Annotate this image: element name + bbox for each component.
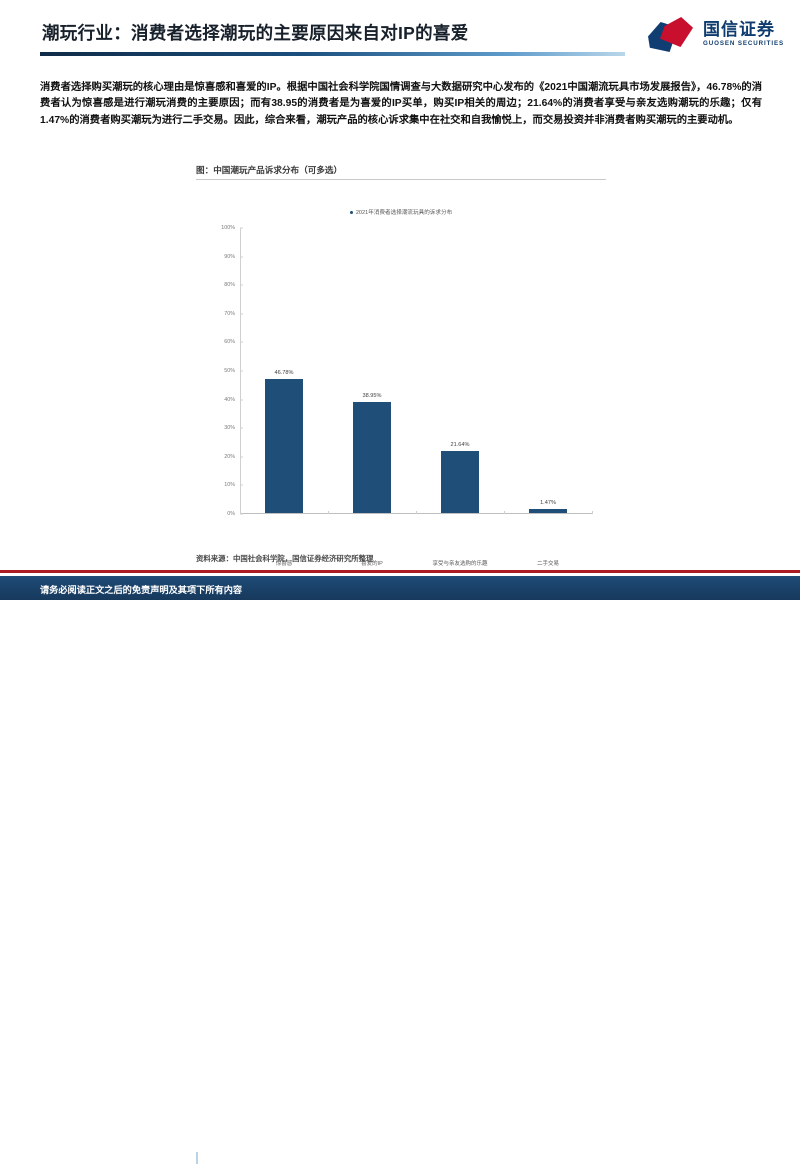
chart-legend: 2021年消费者选择潮流玩具的诉求分布	[196, 208, 606, 216]
guosen-logo-icon	[648, 15, 696, 53]
bar[interactable]	[441, 451, 479, 513]
bar-group[interactable]: 21.64%	[416, 228, 504, 513]
bar[interactable]	[353, 402, 391, 513]
bar-value-label: 46.78%	[275, 370, 294, 376]
legend-marker-icon	[350, 211, 353, 214]
bar[interactable]	[265, 379, 303, 513]
y-axis-tick-label: 30%	[224, 425, 235, 431]
footer-notch	[196, 1152, 198, 1164]
y-axis-tick-label: 60%	[224, 339, 235, 345]
x-axis-tick-mark	[592, 511, 593, 514]
y-axis-tick-label: 20%	[224, 454, 235, 460]
page-title: 潮玩行业：消费者选择潮玩的主要原因来自对IP的喜爱	[42, 20, 469, 45]
bar-value-label: 1.47%	[540, 500, 556, 506]
y-axis-tick-label: 50%	[224, 368, 235, 374]
bar-value-label: 21.64%	[451, 442, 470, 448]
slide-root: 潮玩行业：消费者选择潮玩的主要原因来自对IP的喜爱 国信证券 GUOSEN SE…	[0, 0, 800, 600]
chart-plot-area: 100%90%80%70%60%50%40%30%20%10%0% 46.78%…	[240, 228, 592, 514]
brand-logo: 国信证券 GUOSEN SECURITIES	[648, 14, 784, 54]
y-axis-tick-label: 80%	[224, 282, 235, 288]
y-axis-tick-label: 0%	[227, 511, 235, 517]
y-axis-tick-label: 100%	[221, 225, 235, 231]
y-axis-tick-label: 10%	[224, 482, 235, 488]
brand-name-en: GUOSEN SECURITIES	[703, 40, 784, 47]
y-axis-tick-label: 90%	[224, 254, 235, 260]
footer-disclaimer: 请务必阅读正文之后的免责声明及其项下所有内容	[40, 582, 242, 596]
body-paragraph: 消费者选择购买潮玩的核心理由是惊喜感和喜爱的IP。根据中国社会科学院国情调查与大…	[40, 80, 762, 129]
figure-caption-block: 图：中国潮玩产品诉求分布（可多选）	[196, 164, 606, 180]
chart-title: 2021年消费者选择潮流玩具的诉求分布	[356, 210, 452, 216]
y-axis-tick-label: 40%	[224, 397, 235, 403]
figure-caption: 图：中国潮玩产品诉求分布（可多选）	[196, 164, 606, 179]
figure-source: 资料来源：中国社会科学院，国信证券经济研究所整理	[196, 553, 606, 564]
bar[interactable]	[529, 509, 567, 513]
brand-logo-text: 国信证券 GUOSEN SECURITIES	[703, 21, 784, 48]
brand-name-cn: 国信证券	[703, 21, 784, 39]
y-axis-tick-label: 70%	[224, 311, 235, 317]
bar-group[interactable]: 46.78%	[240, 228, 328, 513]
bar-value-label: 38.95%	[363, 393, 382, 399]
chart-bars: 46.78%38.95%21.64%1.47%	[240, 228, 592, 513]
title-underline-rule	[40, 52, 625, 56]
bar-group[interactable]: 1.47%	[504, 228, 592, 513]
footer-red-accent	[0, 570, 800, 573]
figure-caption-divider	[196, 179, 606, 180]
slide-header: 潮玩行业：消费者选择潮玩的主要原因来自对IP的喜爱 国信证券 GUOSEN SE…	[0, 0, 800, 64]
bar-chart: 2021年消费者选择潮流玩具的诉求分布 100%90%80%70%60%50%4…	[196, 186, 606, 546]
bar-group[interactable]: 38.95%	[328, 228, 416, 513]
